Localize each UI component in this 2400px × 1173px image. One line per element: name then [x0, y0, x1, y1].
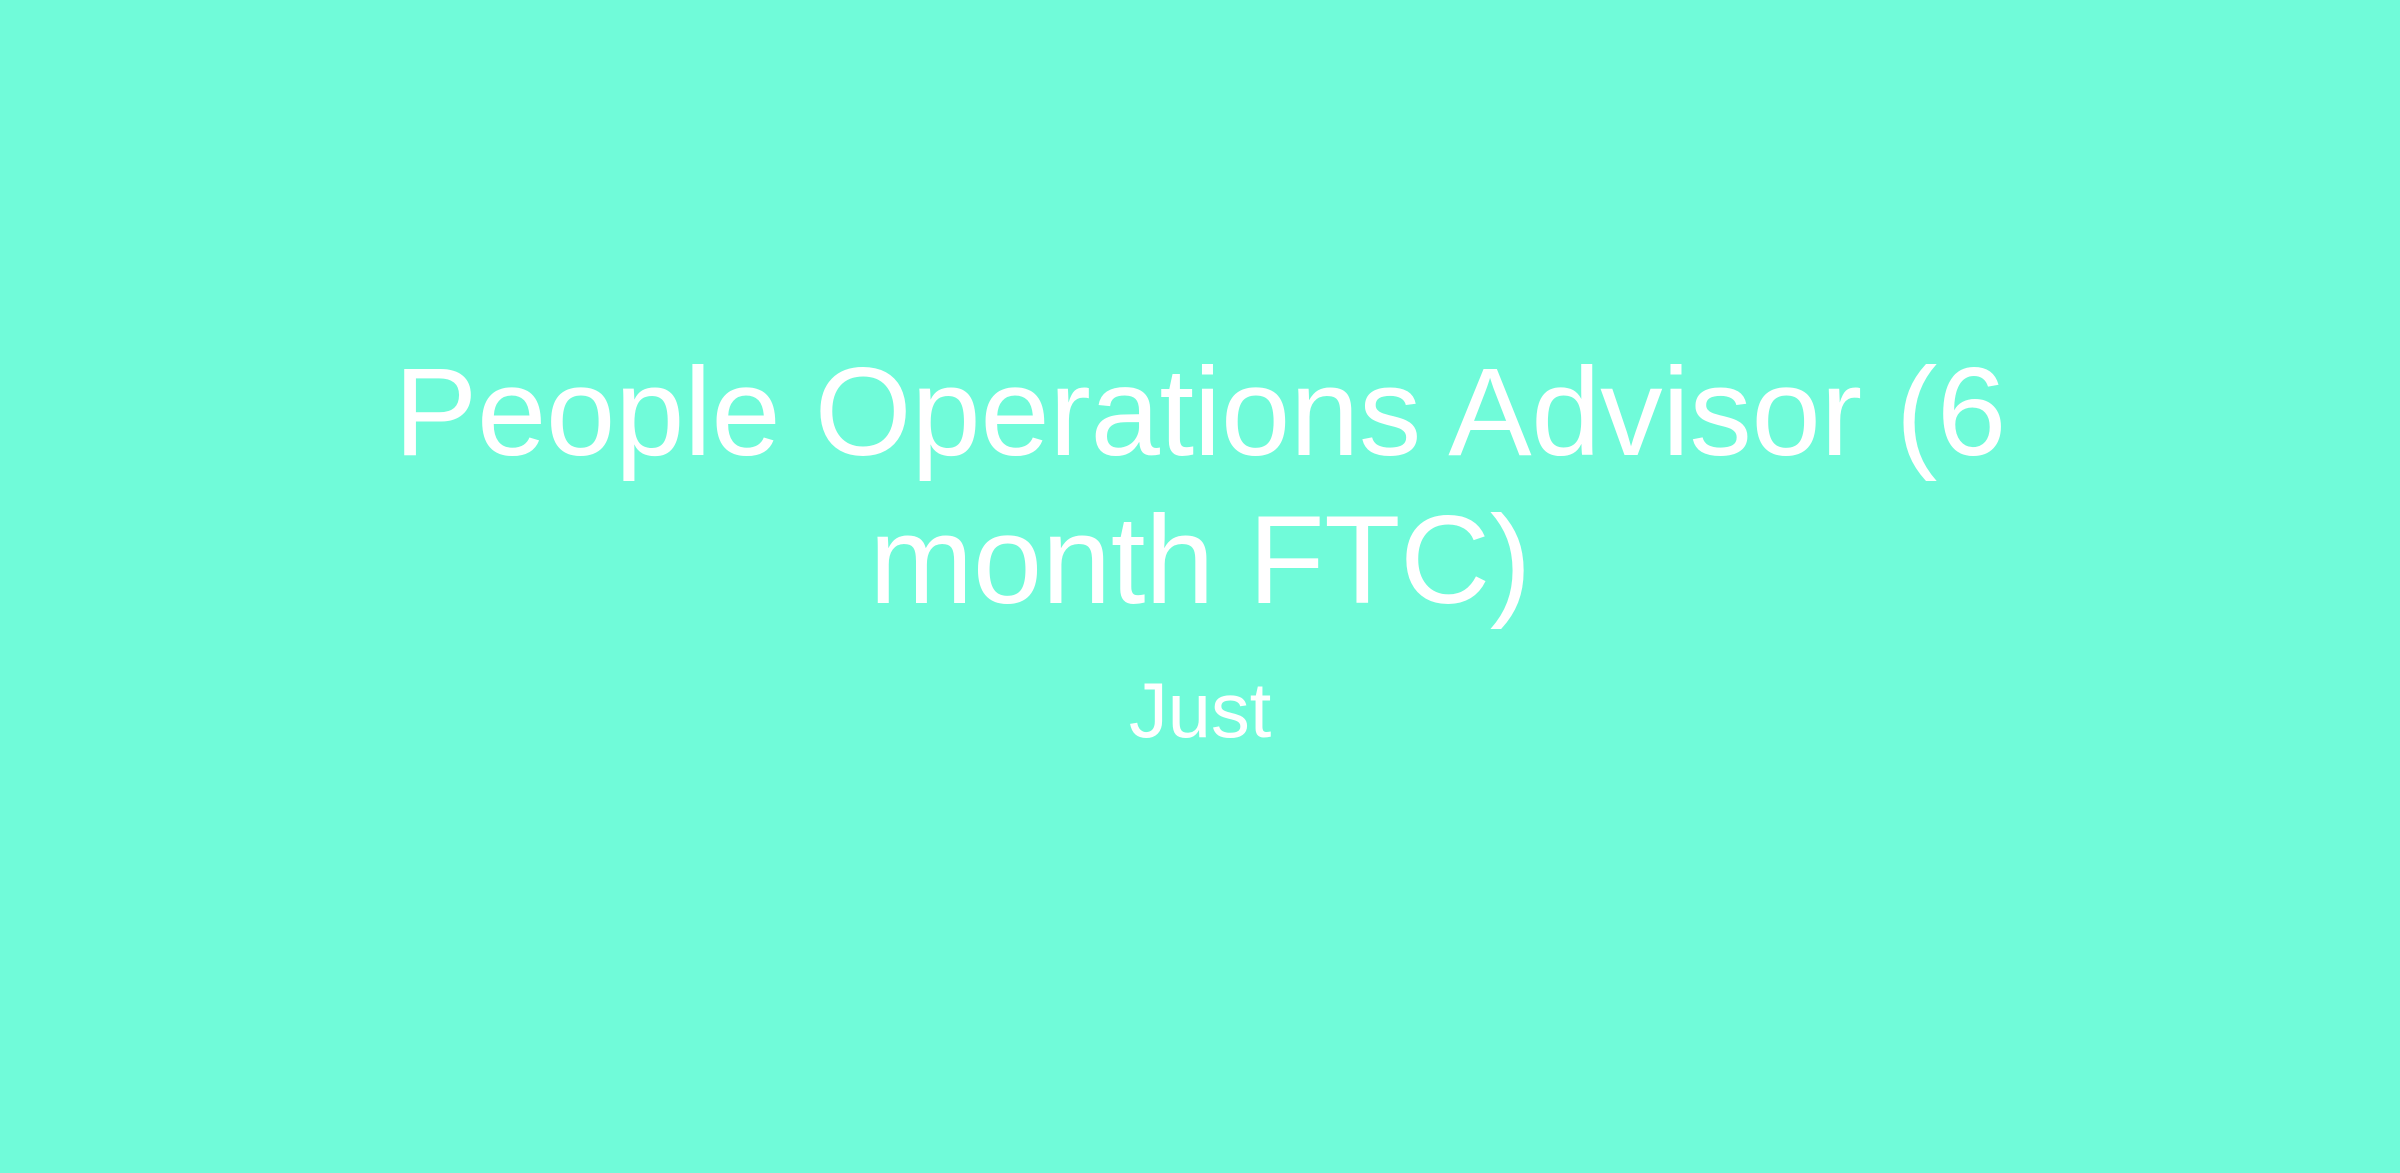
- page-title: People Operations Advisor (6 month FTC): [350, 339, 2050, 634]
- hero-banner: People Operations Advisor (6 month FTC) …: [0, 0, 2400, 1173]
- hero-content: People Operations Advisor (6 month FTC) …: [350, 339, 2050, 758]
- page-subtitle: Just: [1129, 664, 1271, 758]
